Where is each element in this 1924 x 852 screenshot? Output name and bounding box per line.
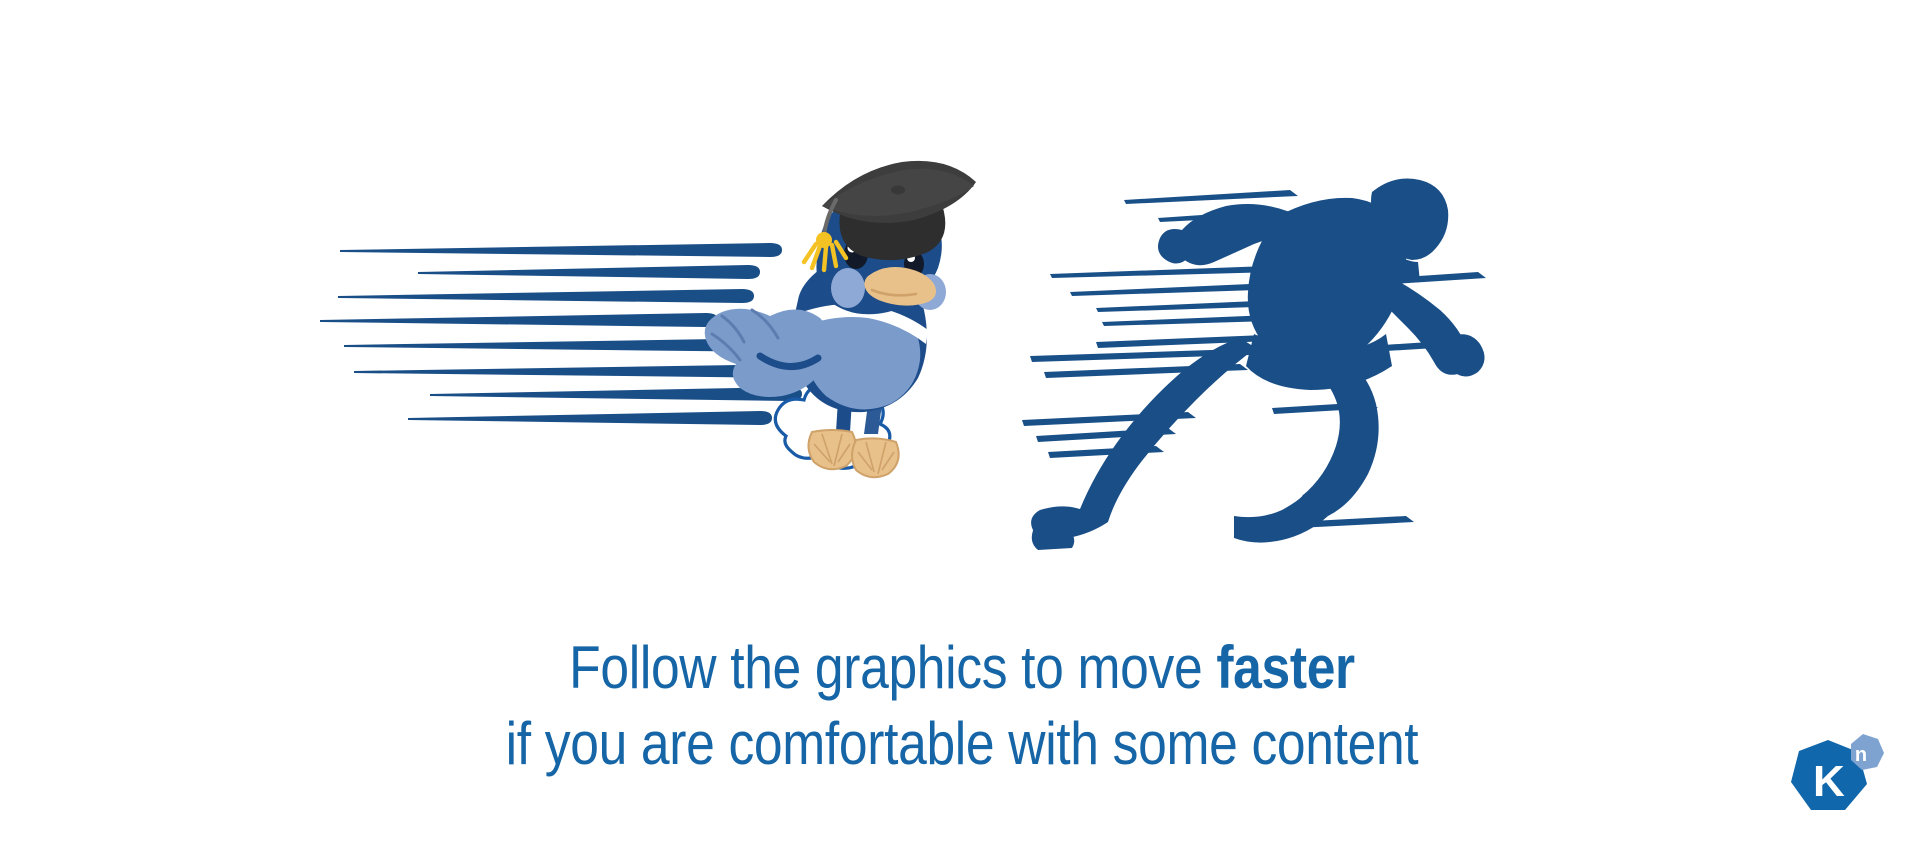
illustration-svg xyxy=(0,0,1924,560)
caption-line-1-prefix: Follow the graphics to move xyxy=(569,634,1216,701)
brand-logo-svg: K n xyxy=(1783,722,1903,832)
logo-letter-k: K xyxy=(1813,757,1845,806)
caption-line-2: if you are comfortable with some content xyxy=(135,706,1790,782)
caption-line-1: Follow the graphics to move faster xyxy=(135,630,1790,706)
illustration-area xyxy=(0,0,1924,560)
logo-letter-n: n xyxy=(1855,744,1867,766)
k-n-hexagon-logo[interactable]: K n xyxy=(1783,722,1903,832)
bird-cheek-left xyxy=(831,268,865,308)
slide-canvas: Follow the graphics to move faster if yo… xyxy=(0,0,1924,852)
caption-line-1-emphasis: faster xyxy=(1216,634,1354,701)
sprinting-runner-silhouette xyxy=(1031,179,1484,551)
caption-block: Follow the graphics to move faster if yo… xyxy=(0,630,1924,782)
graduate-bird-mascot xyxy=(705,161,976,477)
